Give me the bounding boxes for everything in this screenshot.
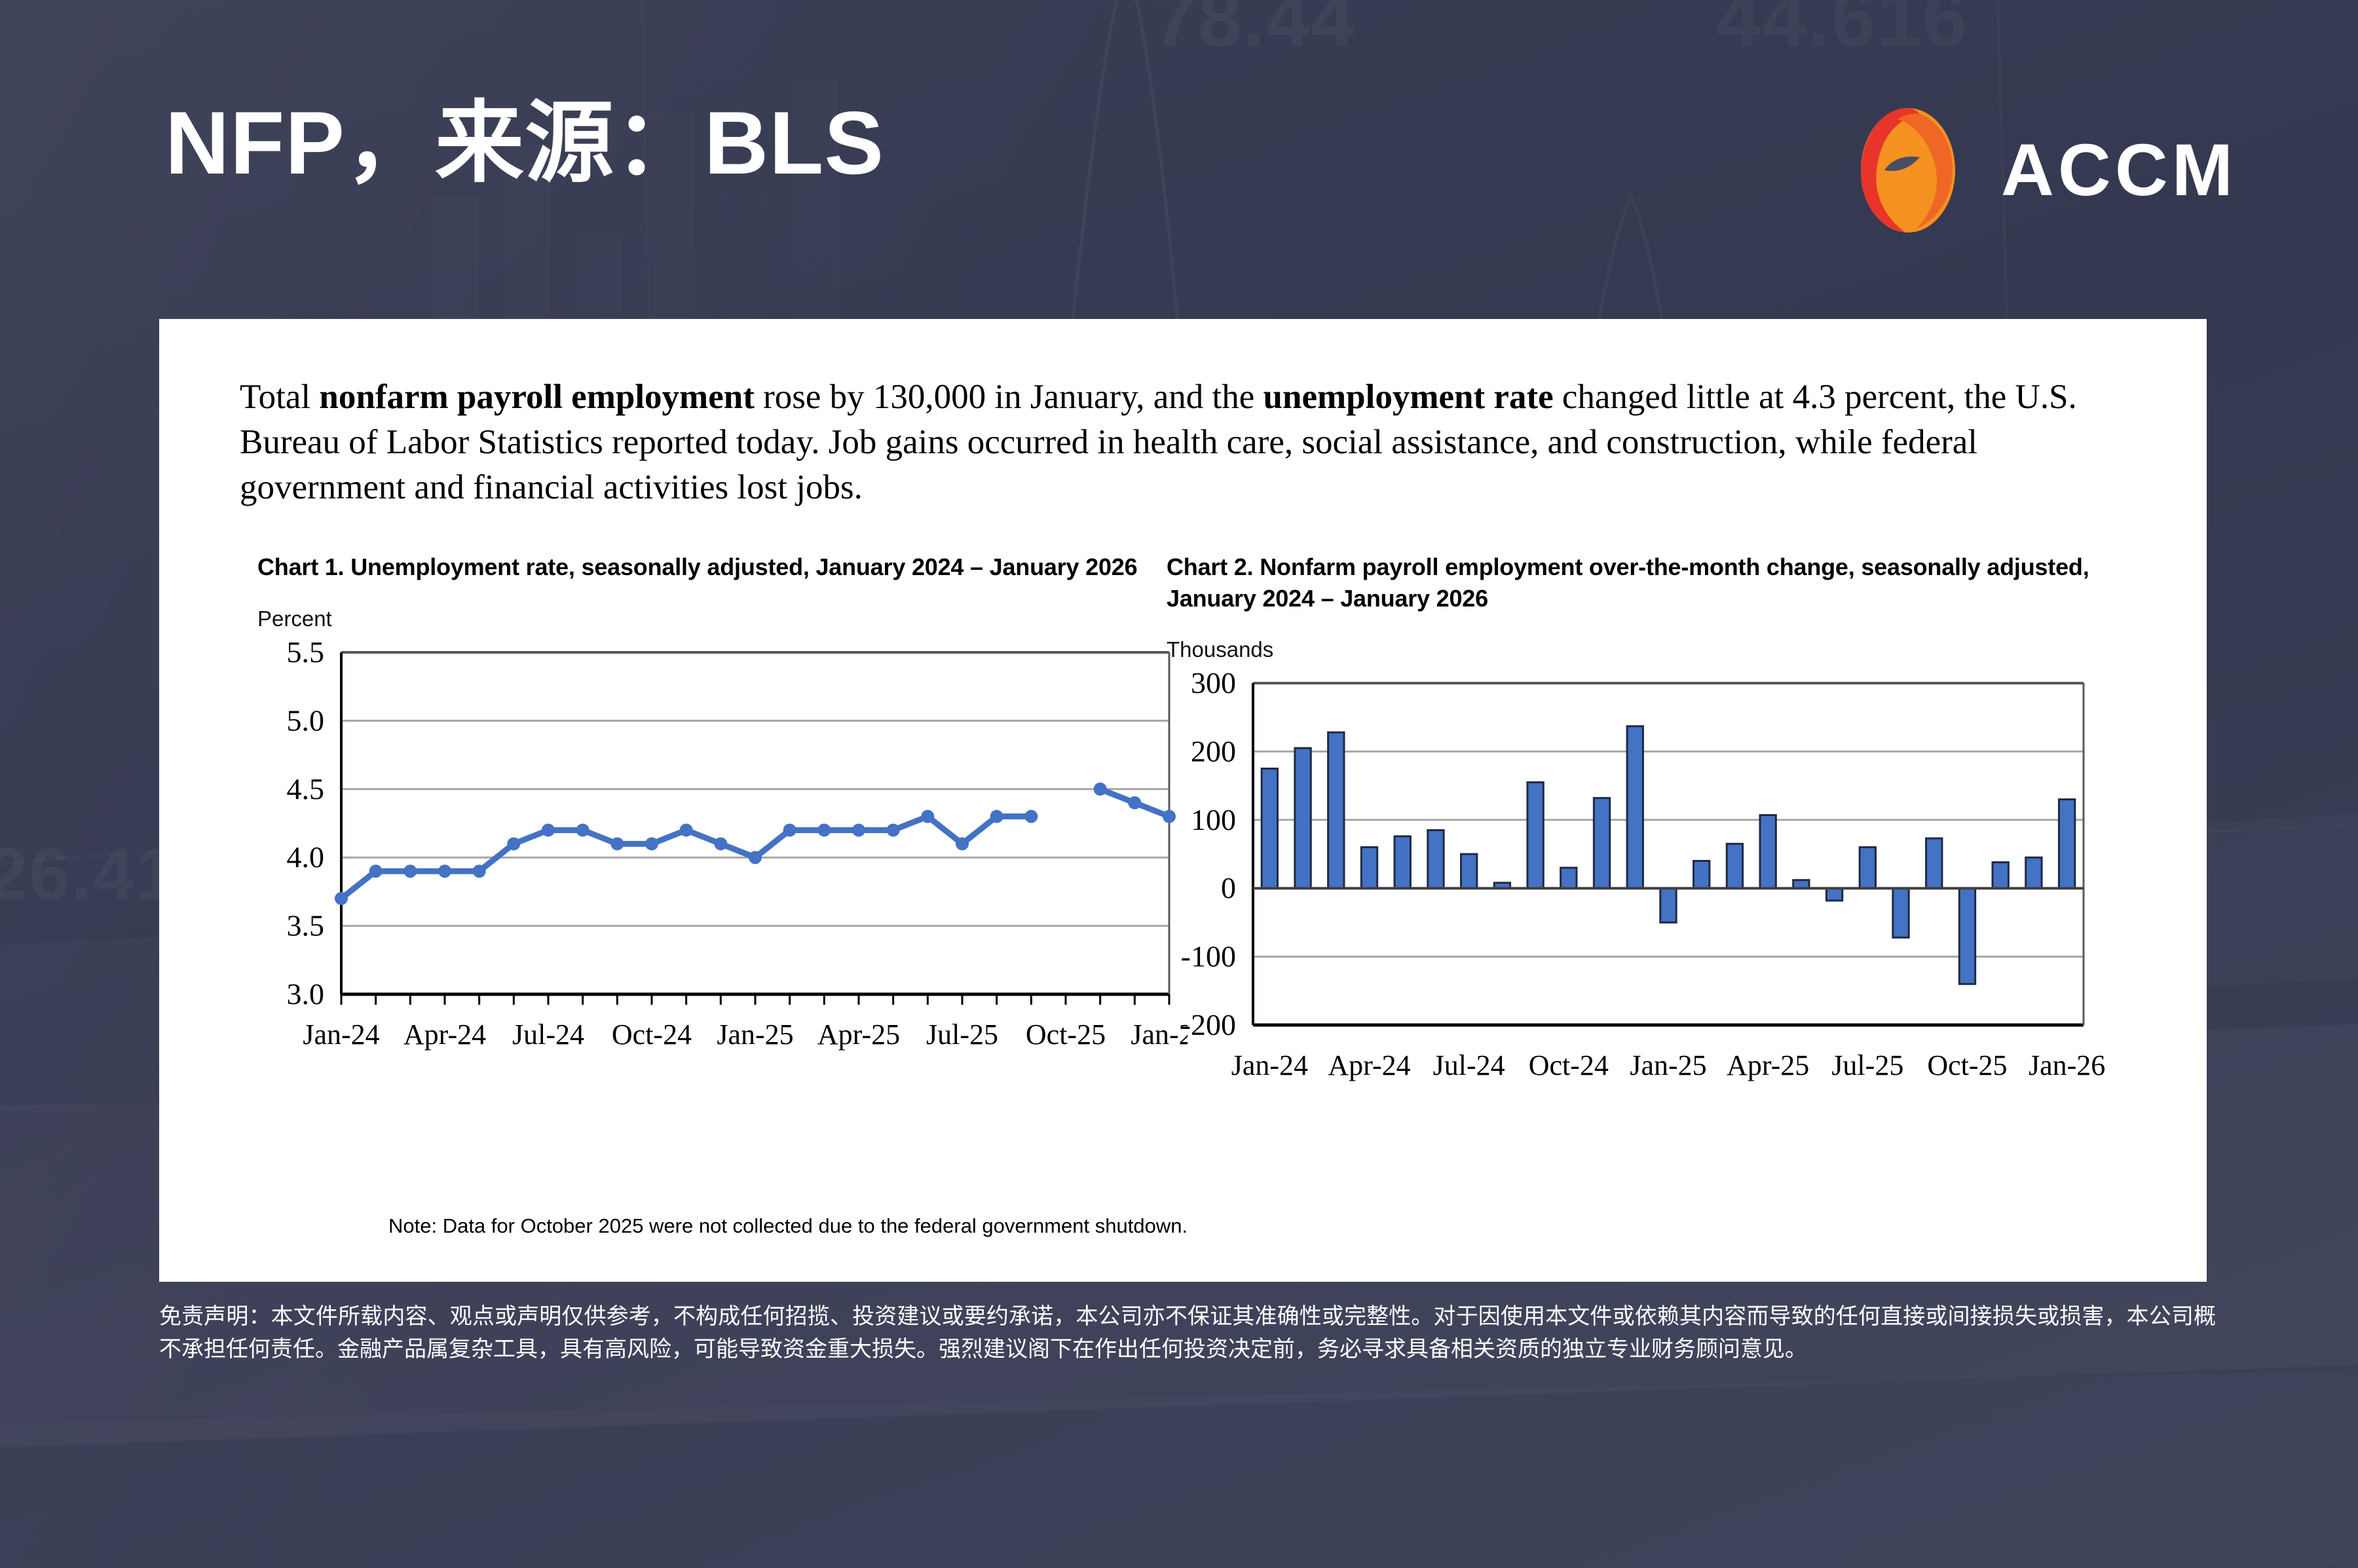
chart1-block: Chart 1. Unemployment rate, seasonally a… [257, 551, 1194, 1076]
chart2-bar [1262, 769, 1277, 889]
chart2-bar [1694, 861, 1710, 888]
chart1-data-point [1024, 810, 1038, 823]
chart1-data-point [817, 823, 831, 836]
chart1-data-point [576, 823, 589, 836]
chart1-xtick-label: Jan-25 [717, 1018, 793, 1051]
chart2-ytick-label: 100 [1191, 803, 1236, 836]
chart2-ylabel: Thousands [1167, 637, 2123, 662]
release-run: Total [240, 378, 319, 416]
chart2-bar [1428, 830, 1444, 888]
chart1-ytick-label: 5.0 [287, 703, 325, 737]
chart1-xtick-label: Jul-24 [512, 1018, 584, 1051]
chart1-ylabel: Percent [257, 607, 1194, 631]
chart1-data-point [990, 810, 1003, 823]
chart1-data-point [783, 823, 796, 836]
chart1-ytick-label: 3.5 [287, 908, 325, 942]
chart1-ytick-label: 3.0 [287, 977, 325, 1011]
chart2-ytick-label: -200 [1181, 1008, 1236, 1041]
chart2-bar [1727, 844, 1742, 888]
chart1-data-point [645, 837, 658, 850]
chart2-bar [1760, 815, 1776, 889]
chart1-data-point [473, 865, 486, 878]
chart2-ytick-label: 0 [1221, 871, 1236, 905]
chart1-plot: 5.55.04.54.03.53.0Jan-24Apr-24Jul-24Oct-… [257, 641, 1194, 1076]
release-bold-run: nonfarm payroll employment [319, 378, 754, 416]
chart2-bar [1826, 888, 1842, 901]
chart1-xtick-label: Jul-25 [926, 1018, 998, 1051]
chart1-xtick-label: Oct-24 [612, 1018, 692, 1051]
chart2-xtick-label: Oct-24 [1529, 1049, 1609, 1081]
background-number: 44.616 [1716, 0, 1968, 64]
chart2-bar [1926, 838, 1942, 888]
chart1-data-point [749, 851, 762, 864]
chart2-xtick-label: Jan-24 [1231, 1049, 1308, 1081]
chart1-data-point [680, 823, 693, 836]
slide-header: NFP，来源：BLS ACCM [0, 98, 2358, 269]
page-title: NFP，来源：BLS [165, 98, 884, 187]
chart1-xtick-label: Apr-25 [817, 1018, 900, 1051]
background-number: 78.44 [1153, 0, 1356, 64]
chart2-ytick-label: 200 [1191, 734, 1236, 768]
chart2-bar [1959, 888, 1975, 984]
chart2-xtick-label: Jan-26 [2029, 1049, 2105, 1081]
chart1-data-point [335, 891, 348, 905]
chart2-bar [1461, 854, 1477, 888]
chart1-data-point [610, 837, 624, 850]
chart2-bar [1660, 888, 1676, 922]
chart2-bar [1561, 868, 1577, 888]
chart2-bar [1361, 848, 1377, 889]
chart1-data-point [1128, 796, 1141, 809]
chart1-data-point [1094, 782, 1107, 795]
chart2-xtick-label: Jan-25 [1630, 1049, 1706, 1081]
chart1-data-point [921, 810, 934, 823]
chart2-bar [1594, 798, 1609, 888]
charts-row: Chart 1. Unemployment rate, seasonally a… [159, 551, 2207, 1265]
release-bold-run: unemployment rate [1263, 378, 1554, 416]
chart2-xtick-label: Jul-24 [1433, 1049, 1505, 1081]
chart2-bar [1394, 836, 1410, 888]
chart2-bar [1295, 748, 1311, 888]
chart1-data-point [403, 865, 417, 878]
content-card: Total nonfarm payroll employment rose by… [159, 319, 2207, 1282]
chart1-data-point [852, 823, 865, 836]
chart2-block: Chart 2. Nonfarm payroll employment over… [1167, 551, 2123, 1107]
chart1-data-point [714, 837, 727, 850]
chart1-xtick-label: Oct-25 [1026, 1018, 1106, 1051]
chart2-bar [2059, 800, 2074, 889]
chart1-ytick-label: 4.5 [287, 772, 325, 805]
chart2-bar [1893, 888, 1909, 937]
chart2-bar [1527, 782, 1543, 888]
bls-release-paragraph: Total nonfarm payroll employment rose by… [240, 375, 2139, 510]
disclaimer-text: 免责声明：本文件所载内容、观点或声明仅供参考，不构成任何招揽、投资建议或要约承诺… [159, 1300, 2216, 1366]
chart1-xtick-label: Apr-24 [403, 1018, 486, 1051]
release-run: rose by 130,000 in January, and the [755, 378, 1263, 416]
logo-wordmark: ACCM [2001, 134, 2237, 207]
chart1-data-point [542, 823, 555, 836]
chart2-bar [1860, 848, 1875, 889]
chart1-svg: 5.55.04.54.03.53.0Jan-24Apr-24Jul-24Oct-… [257, 641, 1188, 1073]
chart2-xtick-label: Apr-25 [1727, 1049, 1809, 1081]
chart2-plot: 3002001000-100-200Jan-24Apr-24Jul-24Oct-… [1167, 671, 2123, 1107]
chart2-bar [1993, 863, 2008, 889]
chart1-note: Note: Data for October 2025 were not col… [388, 1213, 1220, 1239]
chart2-svg: 3002001000-100-200Jan-24Apr-24Jul-24Oct-… [1167, 671, 2116, 1104]
accm-flame-icon [1843, 105, 1974, 236]
chart1-data-point [507, 837, 520, 850]
chart2-xtick-label: Jul-25 [1831, 1049, 1903, 1081]
brand-logo: ACCM [1843, 105, 2237, 236]
chart1-data-point [956, 837, 969, 850]
chart2-xtick-label: Apr-24 [1328, 1049, 1410, 1081]
chart1-ytick-label: 4.0 [287, 840, 325, 874]
chart2-bar [1328, 732, 1344, 888]
chart2-ytick-label: 300 [1191, 671, 1236, 700]
chart2-bar [1627, 726, 1643, 888]
chart1-xtick-label: Jan-24 [303, 1018, 379, 1051]
chart2-ytick-label: -100 [1181, 940, 1236, 973]
chart2-title: Chart 2. Nonfarm payroll employment over… [1167, 551, 2123, 614]
chart2-bar [2026, 857, 2042, 888]
chart1-data-point [369, 865, 383, 878]
chart1-data-point [887, 823, 900, 836]
chart1-title: Chart 1. Unemployment rate, seasonally a… [257, 551, 1194, 583]
chart1-data-point [438, 865, 451, 878]
chart1-ytick-label: 5.5 [287, 641, 325, 669]
chart2-xtick-label: Oct-25 [1927, 1049, 2007, 1081]
